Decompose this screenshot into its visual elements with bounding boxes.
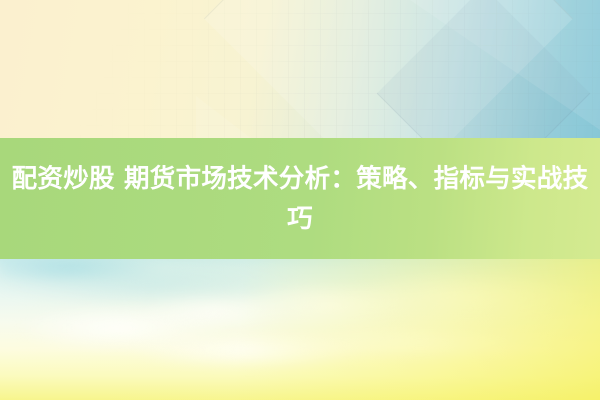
article-header-banner: 配资炒股 期货市场技术分析：策略、指标与实战技巧 [0, 0, 600, 400]
page-title: 配资炒股 期货市场技术分析：策略、指标与实战技巧 [10, 159, 590, 239]
triangle-shape-left [196, 96, 256, 142]
sky-yellow-overlay [0, 250, 600, 400]
title-band: 配资炒股 期货市场技术分析：策略、指标与实战技巧 [0, 138, 600, 259]
sky-gradient [0, 250, 600, 400]
cloud-texture [0, 250, 600, 400]
